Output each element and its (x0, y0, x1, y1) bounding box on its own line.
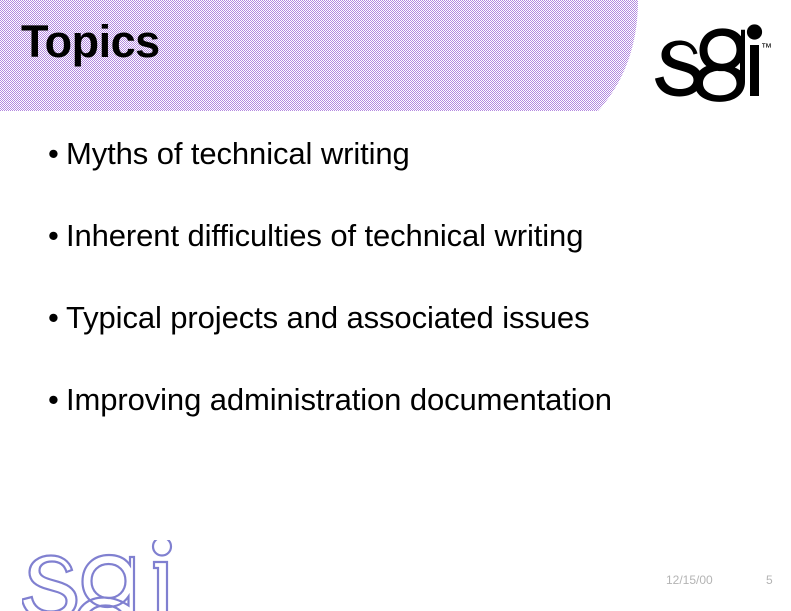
page-title: Topics (21, 17, 160, 67)
bullet-text: Myths of technical writing (66, 138, 410, 169)
list-item: • Inherent difficulties of technical wri… (48, 220, 748, 302)
sgi-letter-i-dot (747, 24, 762, 39)
footer-slide-number: 5 (766, 573, 773, 587)
sgi-letter-i-stem (750, 45, 759, 96)
list-item: • Myths of technical writing (48, 138, 748, 220)
sgi-logo: ™ (651, 17, 771, 109)
bullet-icon: • (48, 138, 66, 169)
list-item: • Improving administration documentation (48, 384, 748, 466)
footer-date: 12/15/00 (666, 573, 713, 587)
bullet-icon: • (48, 220, 66, 251)
list-item: • Typical projects and associated issues (48, 302, 748, 384)
sgi-letter-g (695, 28, 746, 101)
sgi-letter-s (655, 41, 702, 97)
bullet-text: Improving administration documentation (66, 384, 612, 415)
trademark-icon: ™ (761, 42, 771, 54)
bullet-list: • Myths of technical writing • Inherent … (48, 138, 748, 466)
bullet-icon: • (48, 384, 66, 415)
sgi-watermark-logo (22, 540, 202, 611)
bullet-text: Inherent difficulties of technical writi… (66, 220, 583, 251)
bullet-text: Typical projects and associated issues (66, 302, 589, 333)
bullet-icon: • (48, 302, 66, 333)
